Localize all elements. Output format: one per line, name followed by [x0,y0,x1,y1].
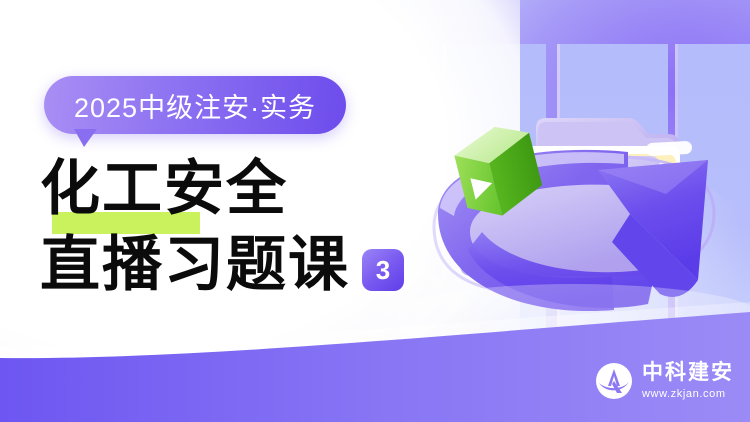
badge-tail [74,129,97,147]
headline-line-1-text: 化工安全 [40,158,288,222]
zkjan-circle-logo-icon [595,362,633,400]
brand-logo-text: 中科建安 www.zkjan.com [642,362,734,399]
course-banner: 2025中级注安·实务 化工安全 直播习题课 3 中科建安 www.zkjan [0,0,750,422]
headline-line-2: 直播习题课 3 [40,234,404,298]
course-category-badge: 2025中级注安·实务 [44,76,346,134]
episode-number-text: 3 [376,255,390,286]
course-category-badge-label: 2025中级注安·实务 [74,86,316,125]
brand-logo[interactable]: 中科建安 www.zkjan.com [595,362,734,400]
headline-line-2-text: 直播习题课 [40,234,350,298]
episode-number-badge: 3 [362,249,404,291]
banner-headline: 化工安全 直播习题课 3 [40,158,404,297]
brand-name: 中科建安 [642,362,734,384]
brand-url: www.zkjan.com [642,388,734,400]
headline-line-1: 化工安全 [40,158,404,222]
